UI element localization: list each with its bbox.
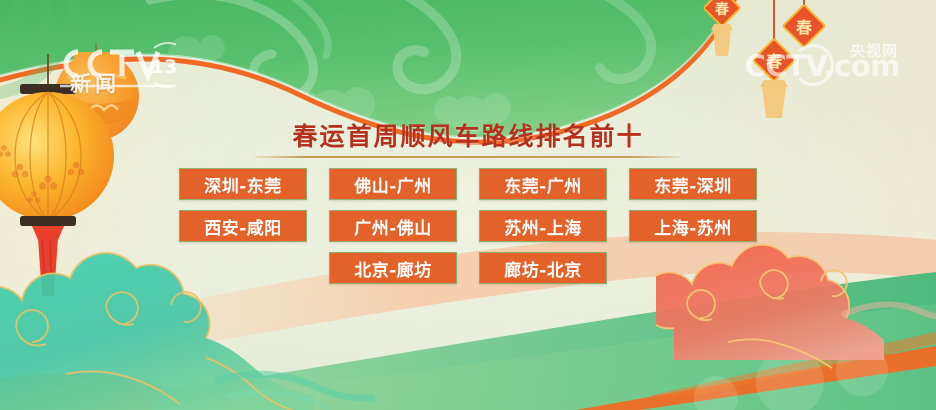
- route-pill[interactable]: 佛山-广州: [329, 168, 457, 200]
- content-layer: 春运首周顺风车路线排名前十 深圳-东莞 佛山-广州 东莞-广州 东莞-深圳 西安…: [0, 0, 936, 410]
- route-row-3: 北京-廊坊 廊坊-北京: [0, 252, 936, 284]
- route-pill[interactable]: 广州-佛山: [329, 210, 457, 242]
- route-grid: 深圳-东莞 佛山-广州 东莞-广州 东莞-深圳 西安-咸阳 广州-佛山 苏州-上…: [0, 168, 936, 294]
- route-pill[interactable]: 北京-廊坊: [329, 252, 457, 284]
- route-pill[interactable]: 苏州-上海: [479, 210, 607, 242]
- route-pill[interactable]: 深圳-东莞: [179, 168, 307, 200]
- title-container: 春运首周顺风车路线排名前十: [0, 121, 936, 152]
- route-row-2: 西安-咸阳 广州-佛山 苏州-上海 上海-苏州: [0, 210, 936, 242]
- page-title: 春运首周顺风车路线排名前十: [292, 121, 643, 152]
- title-underline: [255, 156, 681, 158]
- route-row-1: 深圳-东莞 佛山-广州 东莞-广州 东莞-深圳: [0, 168, 936, 200]
- route-pill[interactable]: 廊坊-北京: [479, 252, 607, 284]
- route-pill[interactable]: 东莞-广州: [479, 168, 607, 200]
- route-pill[interactable]: 上海-苏州: [629, 210, 757, 242]
- broadcast-graphic: 春 春 春: [0, 0, 936, 410]
- route-pill[interactable]: 西安-咸阳: [179, 210, 307, 242]
- route-pill[interactable]: 东莞-深圳: [629, 168, 757, 200]
